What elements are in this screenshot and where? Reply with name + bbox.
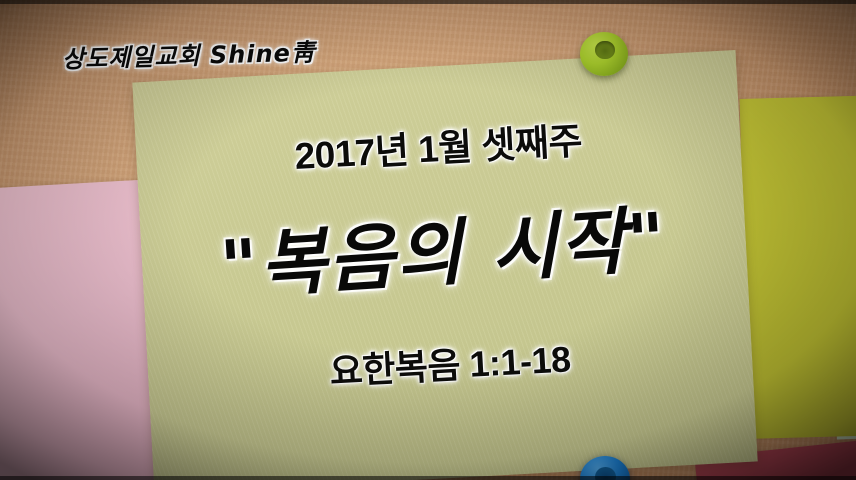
green-memo-note <box>132 50 757 480</box>
channel-logo: 상도제일교회 Shine靑 <box>62 32 317 74</box>
memo-paper-texture <box>132 50 757 480</box>
chartreuse-paper-sheet <box>740 93 856 439</box>
green-pushpin-icon <box>580 32 628 76</box>
video-frame: 2017년 1월 셋째주 "복음의 시작" 요한복음 1:1-18 상도제일교회… <box>0 0 856 480</box>
